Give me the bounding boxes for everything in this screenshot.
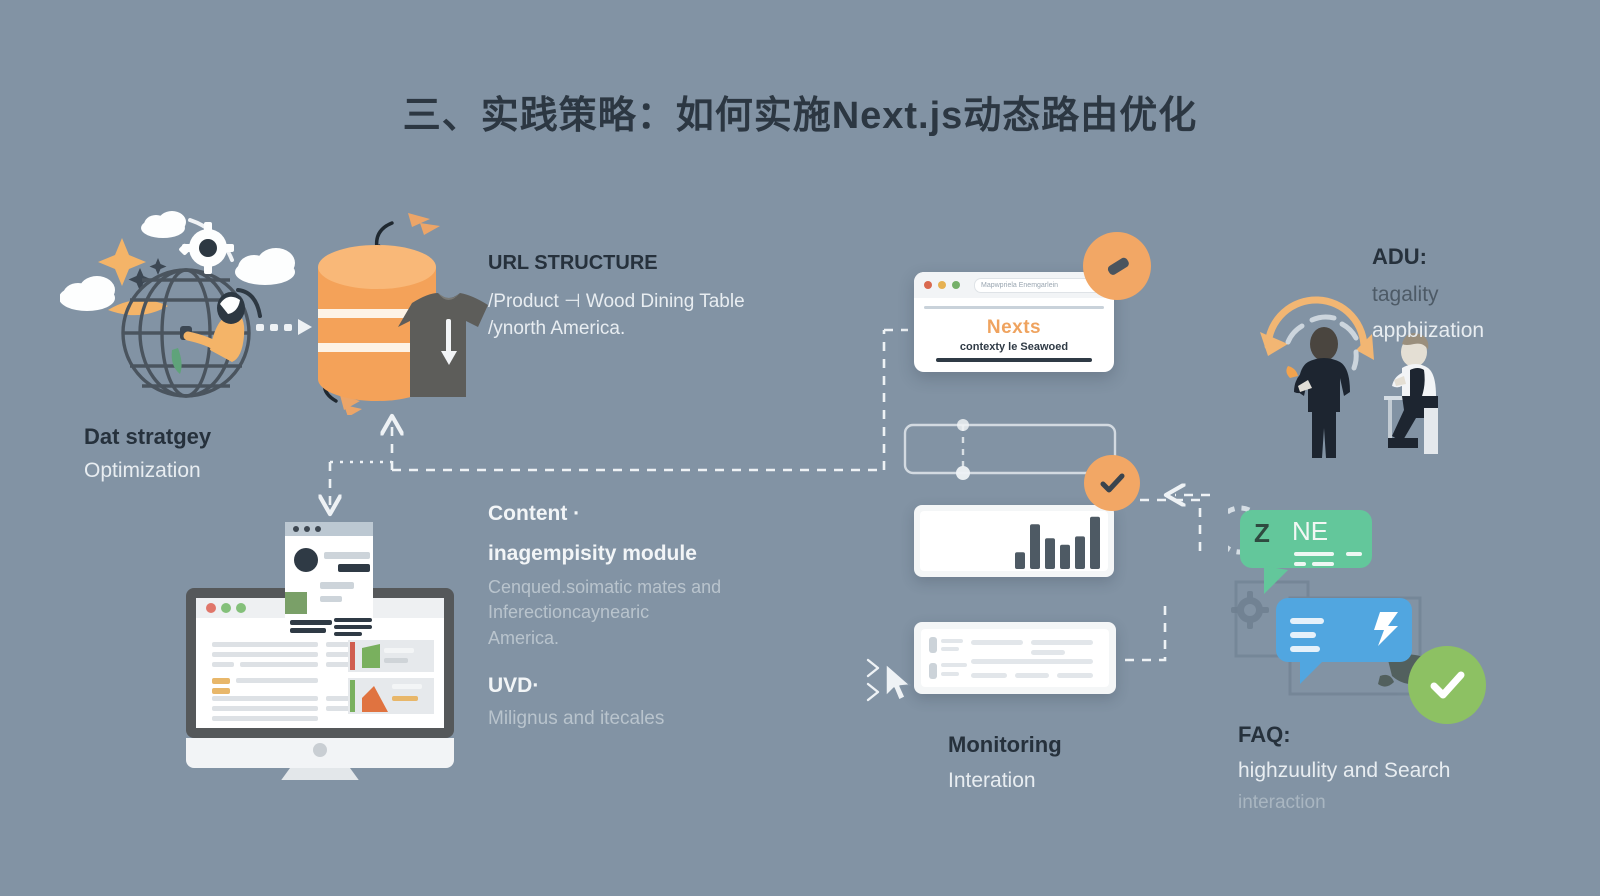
uvd-sub: Milignus and itecales <box>488 706 788 733</box>
infographic-canvas: 三、实践策略：如何实施Next.js动态路由优化 <box>0 0 1600 896</box>
browser-content: Nexts contexty le Seawoed <box>914 298 1114 374</box>
bar-chart <box>920 511 1108 571</box>
adu-line2: appbiization <box>1372 316 1600 346</box>
adu-heading: ADU: <box>1372 242 1600 272</box>
uvd-heading: UVD· <box>488 672 788 700</box>
data-strategy-sub: Optimization <box>84 456 364 486</box>
analytics-chart-area <box>920 511 1108 571</box>
content-module-body-3: America. <box>488 626 788 652</box>
adu-block: ADU: tagality appbiization <box>1372 242 1600 345</box>
url-structure-heading: URL STRUCTURE <box>488 250 818 277</box>
cloud-icon <box>141 211 186 238</box>
monitoring-block: Monitoring Interation <box>948 730 1188 796</box>
uvd-block: UVD· Milignus and itecales <box>488 672 788 733</box>
faq-line1: highzuulity and Search <box>1238 756 1538 786</box>
bubble-text-right: NE <box>1292 516 1328 547</box>
cloud-icon <box>60 276 115 311</box>
chart-bar <box>1015 552 1025 569</box>
content-module-body-2: Inferectioncaynearic <box>488 600 788 626</box>
list-card[interactable] <box>914 622 1116 694</box>
chart-thumb-green <box>348 640 434 672</box>
url-structure-line1: /Product ⊣ Wood Dining Table <box>488 289 818 316</box>
chart-bar <box>1090 517 1100 569</box>
tag-badge-icon <box>1083 232 1151 300</box>
content-module-body-1: Cenqued.soimatic mates and <box>488 575 788 601</box>
chart-bar <box>1060 545 1070 569</box>
monitoring-heading: Monitoring <box>948 730 1188 760</box>
browser-url-input[interactable]: Mapwpriela Enemgarlein <box>974 278 1104 293</box>
person-standing <box>1286 327 1350 458</box>
chart-bar <box>1075 536 1085 569</box>
arrow-feather <box>408 213 440 235</box>
content-module-heading-2: inagempisity module <box>488 540 788 568</box>
data-strategy-block: Dat stratgey Optimization <box>84 422 364 486</box>
url-structure-block: URL STRUCTURE /Product ⊣ Wood Dining Tab… <box>488 250 818 343</box>
faq-block: FAQ: highzuulity and Search interaction <box>1238 720 1538 816</box>
gear-icon <box>178 222 234 274</box>
browser-hero-title: Nexts <box>924 317 1104 339</box>
browser-hero-subtitle: contexty le Seawoed <box>924 341 1104 353</box>
monitoring-sub: Interation <box>948 766 1188 796</box>
traffic-light-green[interactable] <box>952 281 960 289</box>
list-card-content <box>921 629 1109 687</box>
browser-mockup[interactable]: Mapwpriela Enemgarlein Nexts contexty le… <box>914 272 1114 372</box>
browser-hero-rule <box>936 358 1092 362</box>
success-check-icon <box>1408 646 1486 724</box>
check-badge-icon <box>1084 455 1140 511</box>
traffic-light-yellow[interactable] <box>938 281 946 289</box>
faq-heading: FAQ: <box>1238 720 1538 750</box>
monitor-scene <box>172 500 472 780</box>
traffic-light-red[interactable] <box>924 281 932 289</box>
faq-line2: interaction <box>1238 790 1538 817</box>
data-strategy-heading: Dat stratgey <box>84 422 364 452</box>
chart-bar <box>1030 524 1040 569</box>
page-title: 三、实践策略：如何实施Next.js动态路由优化 <box>0 84 1600 139</box>
content-module-block: Content · inagempisity module Cenqued.so… <box>488 500 788 651</box>
chart-bar <box>1045 538 1055 569</box>
bubble-text-left: Z <box>1254 518 1270 549</box>
url-structure-line2: /ynorth America. <box>488 316 818 343</box>
person-seated <box>1384 333 1438 454</box>
tshirt-icon <box>398 293 488 397</box>
overlay-card <box>285 522 373 636</box>
cloud-icon <box>235 248 295 285</box>
content-module-heading-1: Content · <box>488 500 788 528</box>
analytics-card[interactable] <box>914 505 1114 577</box>
chart-thumb-orange <box>348 678 434 714</box>
adu-line1: tagality <box>1372 280 1600 310</box>
cursor-icon <box>882 662 914 706</box>
database-scene <box>300 205 500 415</box>
